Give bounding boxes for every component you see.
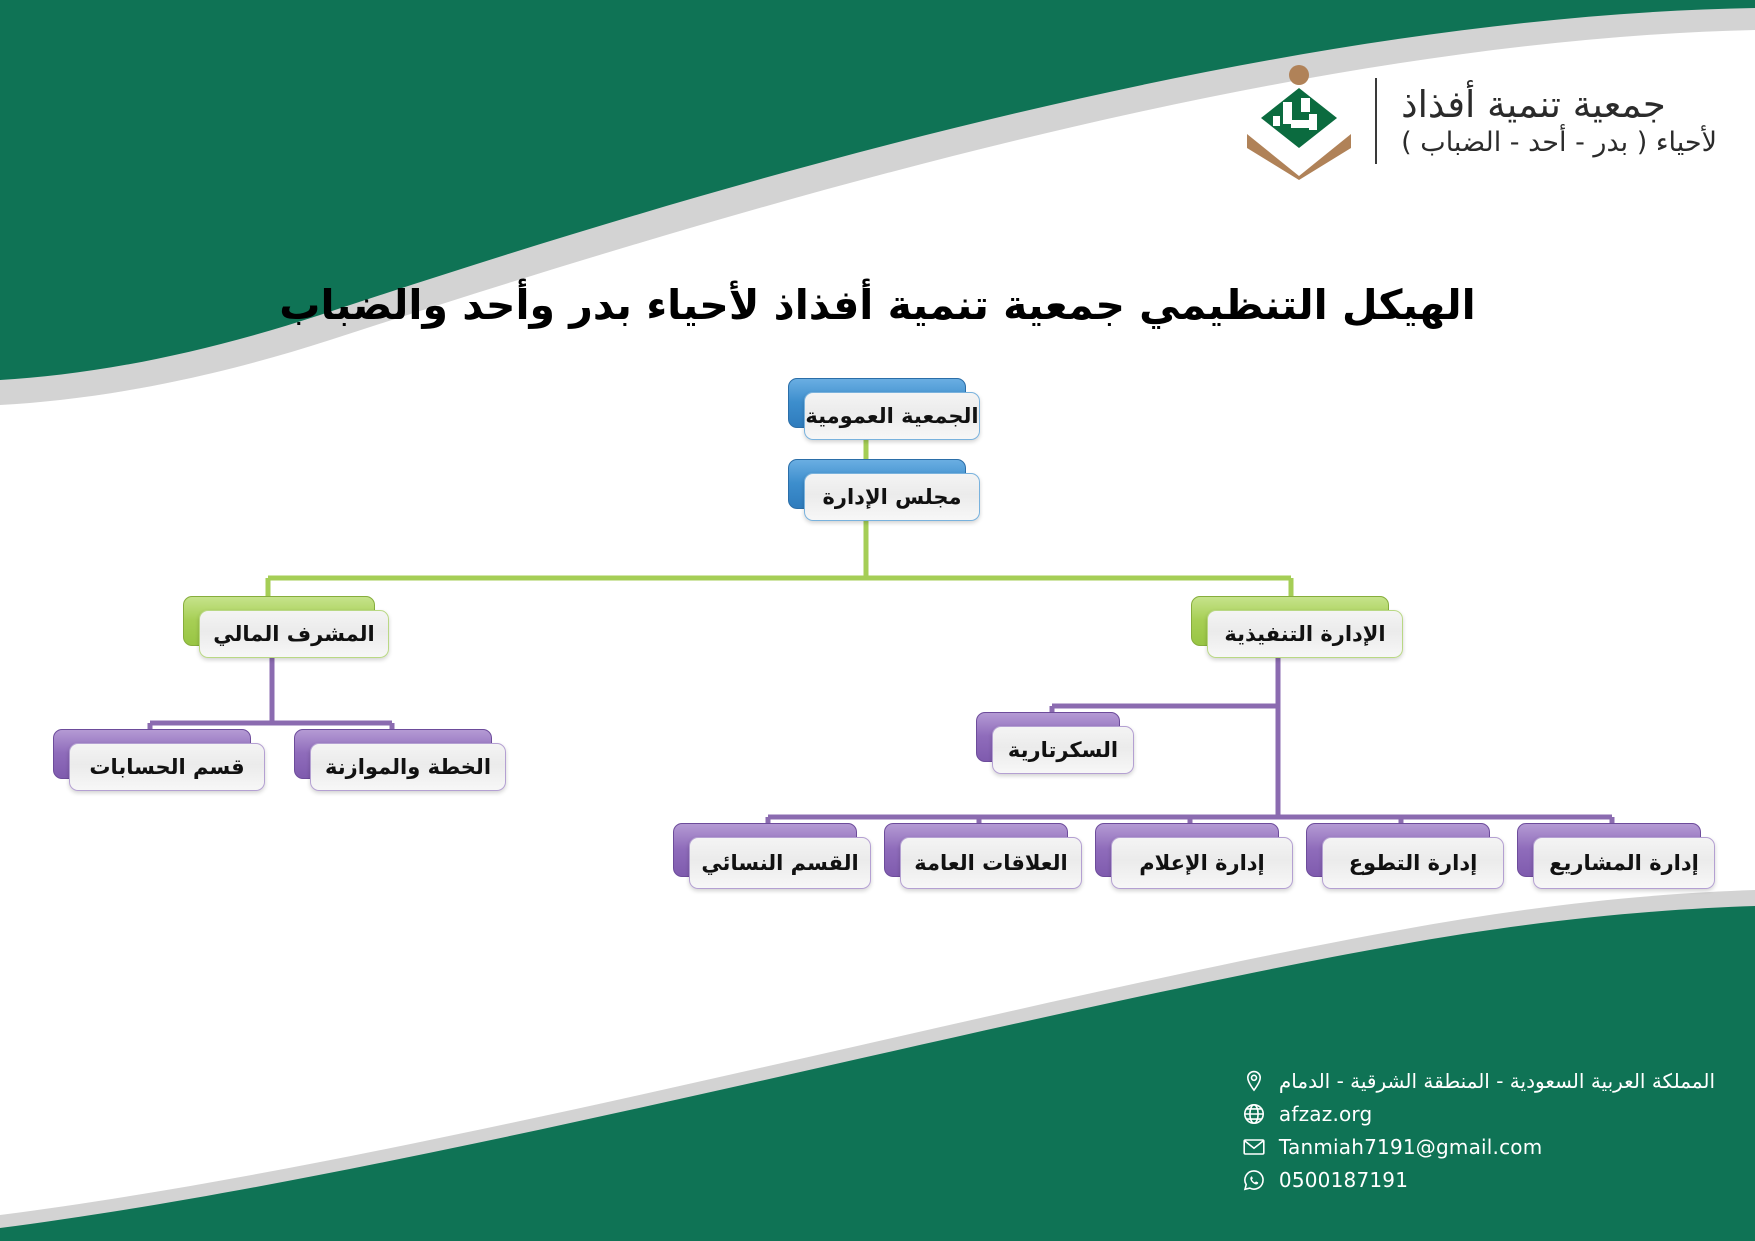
whatsapp-icon [1241,1167,1267,1193]
org-node-face: إدارة المشاريع [1533,837,1715,889]
org-node-face: العلاقات العامة [900,837,1082,889]
org-node-face: الجمعية العمومية [804,392,980,440]
org-node-face: مجلس الإدارة [804,473,980,521]
org-node-board-of-directors: مجلس الإدارة [790,459,966,507]
org-node-face: الإدارة التنفيذية [1207,610,1403,658]
footer-contact-list: المملكة العربية السعودية - المنطقة الشرق… [1241,1068,1715,1193]
org-node-label: قسم الحسابات [79,755,254,779]
org-node-general-assembly: الجمعية العمومية [790,378,966,426]
org-node-projects-management: إدارة المشاريع [1519,823,1701,875]
org-node-label: الجمعية العمومية [795,404,988,428]
org-node-label: إدارة التطوع [1339,851,1488,875]
globe-icon [1241,1101,1267,1127]
org-node-womens-department: القسم النسائي [675,823,857,875]
org-node-volunteer-management: إدارة التطوع [1308,823,1490,875]
contact-email[interactable]: Tanmiah7191@gmail.com [1241,1134,1543,1160]
envelope-icon [1241,1134,1267,1160]
contact-address: المملكة العربية السعودية - المنطقة الشرق… [1241,1068,1715,1094]
location-pin-icon [1241,1068,1267,1094]
org-node-plan-and-budget: الخطة والموازنة [296,729,492,777]
org-node-executive-management: الإدارة التنفيذية [1193,596,1389,644]
org-node-face: إدارة الإعلام [1111,837,1293,889]
org-node-face: المشرف المالي [199,610,389,658]
contact-phone[interactable]: 0500187191 [1241,1167,1408,1193]
org-node-face: القسم النسائي [689,837,871,889]
contact-address-text: المملكة العربية السعودية - المنطقة الشرق… [1279,1069,1715,1093]
org-node-accounts-department: قسم الحسابات [55,729,251,777]
org-node-face: إدارة التطوع [1322,837,1504,889]
org-node-label: إدارة المشاريع [1539,851,1709,875]
org-node-label: الخطة والموازنة [315,755,501,779]
org-node-face: الخطة والموازنة [310,743,506,791]
contact-website-text[interactable]: afzaz.org [1279,1102,1373,1126]
org-node-label: المشرف المالي [203,622,384,646]
org-node-face: قسم الحسابات [69,743,265,791]
organizational-chart-poster: جمعية تنمية أفذاذ لأحياء ( بدر - أحد - ا… [0,0,1755,1241]
org-node-label: إدارة الإعلام [1129,851,1275,875]
org-chart: الجمعية العموميةمجلس الإدارةالمشرف المال… [0,0,1755,1241]
org-node-media-management: إدارة الإعلام [1097,823,1279,875]
org-node-financial-supervisor: المشرف المالي [185,596,375,644]
org-node-secretariat: السكرتارية [978,712,1120,760]
org-node-label: الإدارة التنفيذية [1214,622,1395,646]
org-node-face: السكرتارية [992,726,1134,774]
org-node-public-relations: العلاقات العامة [886,823,1068,875]
org-node-label: السكرتارية [998,738,1128,762]
contact-website[interactable]: afzaz.org [1241,1101,1373,1127]
contact-email-text[interactable]: Tanmiah7191@gmail.com [1279,1135,1543,1159]
org-node-label: العلاقات العامة [904,851,1078,875]
contact-phone-text[interactable]: 0500187191 [1279,1168,1408,1192]
org-node-label: القسم النسائي [691,851,868,875]
org-node-label: مجلس الإدارة [813,485,972,509]
